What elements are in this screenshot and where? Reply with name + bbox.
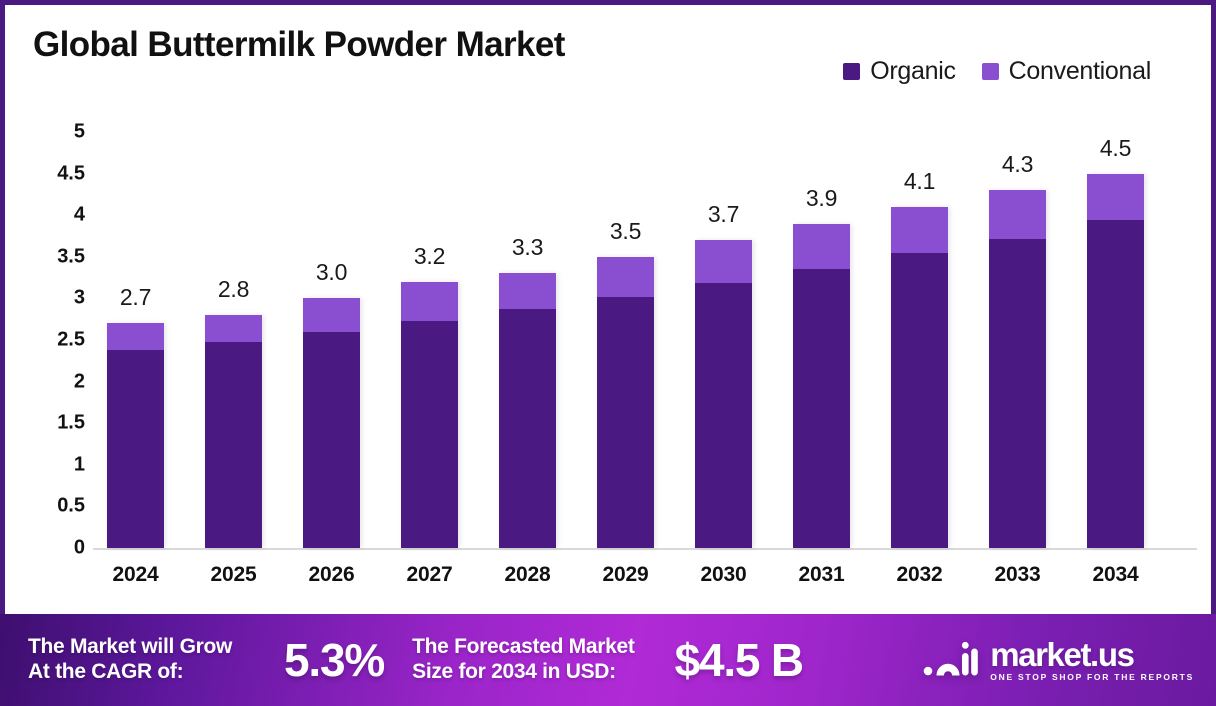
bar-value-label: 3.9 <box>806 185 837 212</box>
stacked-bar[interactable] <box>499 273 556 548</box>
bar-value-label: 3.5 <box>610 218 641 245</box>
bar-segment-organic[interactable] <box>989 239 1046 549</box>
x-axis-label: 2034 <box>1093 563 1139 587</box>
bar-value-label: 3.7 <box>708 201 739 228</box>
bar-segment-conventional[interactable] <box>989 190 1046 238</box>
x-axis-label: 2026 <box>309 563 355 587</box>
bar-group[interactable]: 2.82025 <box>205 5 262 548</box>
footer-banner: The Market will Grow At the CAGR of: 5.3… <box>0 614 1216 706</box>
bar-group[interactable]: 4.12032 <box>891 5 948 548</box>
forecast-label: The Forecasted Market Size for 2034 in U… <box>412 635 634 685</box>
bar-value-label: 4.3 <box>1002 151 1033 178</box>
bar-group[interactable]: 3.92031 <box>793 5 850 548</box>
y-axis: 54.543.532.521.510.50 <box>39 5 85 605</box>
forecast-value: $4.5 B <box>675 633 803 687</box>
bar-segment-organic[interactable] <box>695 283 752 548</box>
stacked-bar[interactable] <box>1087 174 1144 548</box>
stacked-bar[interactable] <box>695 240 752 548</box>
bar-value-label: 3.3 <box>512 234 543 261</box>
bar-group[interactable]: 2.72024 <box>107 5 164 548</box>
bar-segment-conventional[interactable] <box>499 273 556 309</box>
bar-segment-conventional[interactable] <box>401 282 458 321</box>
brand-name: market.us <box>990 638 1194 671</box>
bar-segment-conventional[interactable] <box>793 224 850 270</box>
y-axis-tick: 1.5 <box>57 412 85 435</box>
y-axis-tick: 0.5 <box>57 495 85 518</box>
y-axis-tick: 3.5 <box>57 245 85 268</box>
x-axis-label: 2033 <box>995 563 1041 587</box>
y-axis-tick: 2.5 <box>57 329 85 352</box>
stacked-bar[interactable] <box>303 298 360 548</box>
bar-segment-conventional[interactable] <box>107 323 164 350</box>
x-axis-label: 2025 <box>211 563 257 587</box>
brand-text: market.us ONE STOP SHOP FOR THE REPORTS <box>990 638 1194 682</box>
bar-value-label: 2.7 <box>120 284 151 311</box>
bar-series-container: 2.720242.820253.020263.220273.320283.520… <box>93 5 1197 605</box>
x-axis-label: 2031 <box>799 563 845 587</box>
bar-segment-conventional[interactable] <box>695 240 752 283</box>
bar-value-label: 2.8 <box>218 276 249 303</box>
x-axis-label: 2030 <box>701 563 747 587</box>
stacked-bar[interactable] <box>205 315 262 548</box>
bar-group[interactable]: 4.52034 <box>1087 5 1144 548</box>
bar-segment-organic[interactable] <box>891 253 948 548</box>
bar-segment-organic[interactable] <box>303 332 360 548</box>
y-axis-tick: 0 <box>74 537 85 560</box>
bar-segment-organic[interactable] <box>107 350 164 548</box>
brand-tagline: ONE STOP SHOP FOR THE REPORTS <box>990 673 1194 682</box>
bar-segment-conventional[interactable] <box>1087 174 1144 221</box>
cagr-label: The Market will Grow At the CAGR of: <box>28 635 232 685</box>
brand-logo[interactable]: market.us ONE STOP SHOP FOR THE REPORTS <box>923 638 1194 682</box>
stacked-bar[interactable] <box>107 323 164 548</box>
market-us-logo-icon <box>923 641 979 679</box>
bar-value-label: 3.0 <box>316 259 347 286</box>
x-axis-label: 2024 <box>113 563 159 587</box>
bar-segment-organic[interactable] <box>793 269 850 548</box>
bar-value-label: 4.5 <box>1100 135 1131 162</box>
stacked-bar[interactable] <box>891 207 948 548</box>
bar-value-label: 3.2 <box>414 243 445 270</box>
bar-value-label: 4.1 <box>904 168 935 195</box>
x-axis-label: 2028 <box>505 563 551 587</box>
bar-group[interactable]: 3.02026 <box>303 5 360 548</box>
y-axis-tick: 4.5 <box>57 162 85 185</box>
bar-segment-organic[interactable] <box>499 309 556 548</box>
x-axis-label: 2029 <box>603 563 649 587</box>
y-axis-tick: 2 <box>74 370 85 393</box>
stacked-bar[interactable] <box>989 190 1046 548</box>
bar-segment-organic[interactable] <box>401 321 458 548</box>
bar-group[interactable]: 4.32033 <box>989 5 1046 548</box>
y-axis-tick: 5 <box>74 121 85 144</box>
stacked-bar[interactable] <box>597 257 654 548</box>
stacked-bar[interactable] <box>401 282 458 548</box>
bar-group[interactable]: 3.22027 <box>401 5 458 548</box>
bar-group[interactable]: 3.72030 <box>695 5 752 548</box>
bar-segment-organic[interactable] <box>1087 220 1144 548</box>
infographic-root: Global Buttermilk Powder Market Organic … <box>0 0 1216 706</box>
y-axis-tick: 4 <box>74 204 85 227</box>
bar-segment-conventional[interactable] <box>303 298 360 331</box>
x-axis-label: 2027 <box>407 563 453 587</box>
bar-group[interactable]: 3.32028 <box>499 5 556 548</box>
bar-segment-organic[interactable] <box>597 297 654 548</box>
bar-segment-conventional[interactable] <box>597 257 654 297</box>
bar-segment-conventional[interactable] <box>891 207 948 253</box>
y-axis-tick: 1 <box>74 453 85 476</box>
stacked-bar[interactable] <box>793 224 850 548</box>
cagr-value: 5.3% <box>284 633 384 687</box>
x-axis-label: 2032 <box>897 563 943 587</box>
bar-segment-conventional[interactable] <box>205 315 262 342</box>
chart-plot-area: 54.543.532.521.510.50 2.720242.820253.02… <box>5 5 1216 605</box>
y-axis-tick: 3 <box>74 287 85 310</box>
bar-group[interactable]: 3.52029 <box>597 5 654 548</box>
bar-segment-organic[interactable] <box>205 342 262 548</box>
